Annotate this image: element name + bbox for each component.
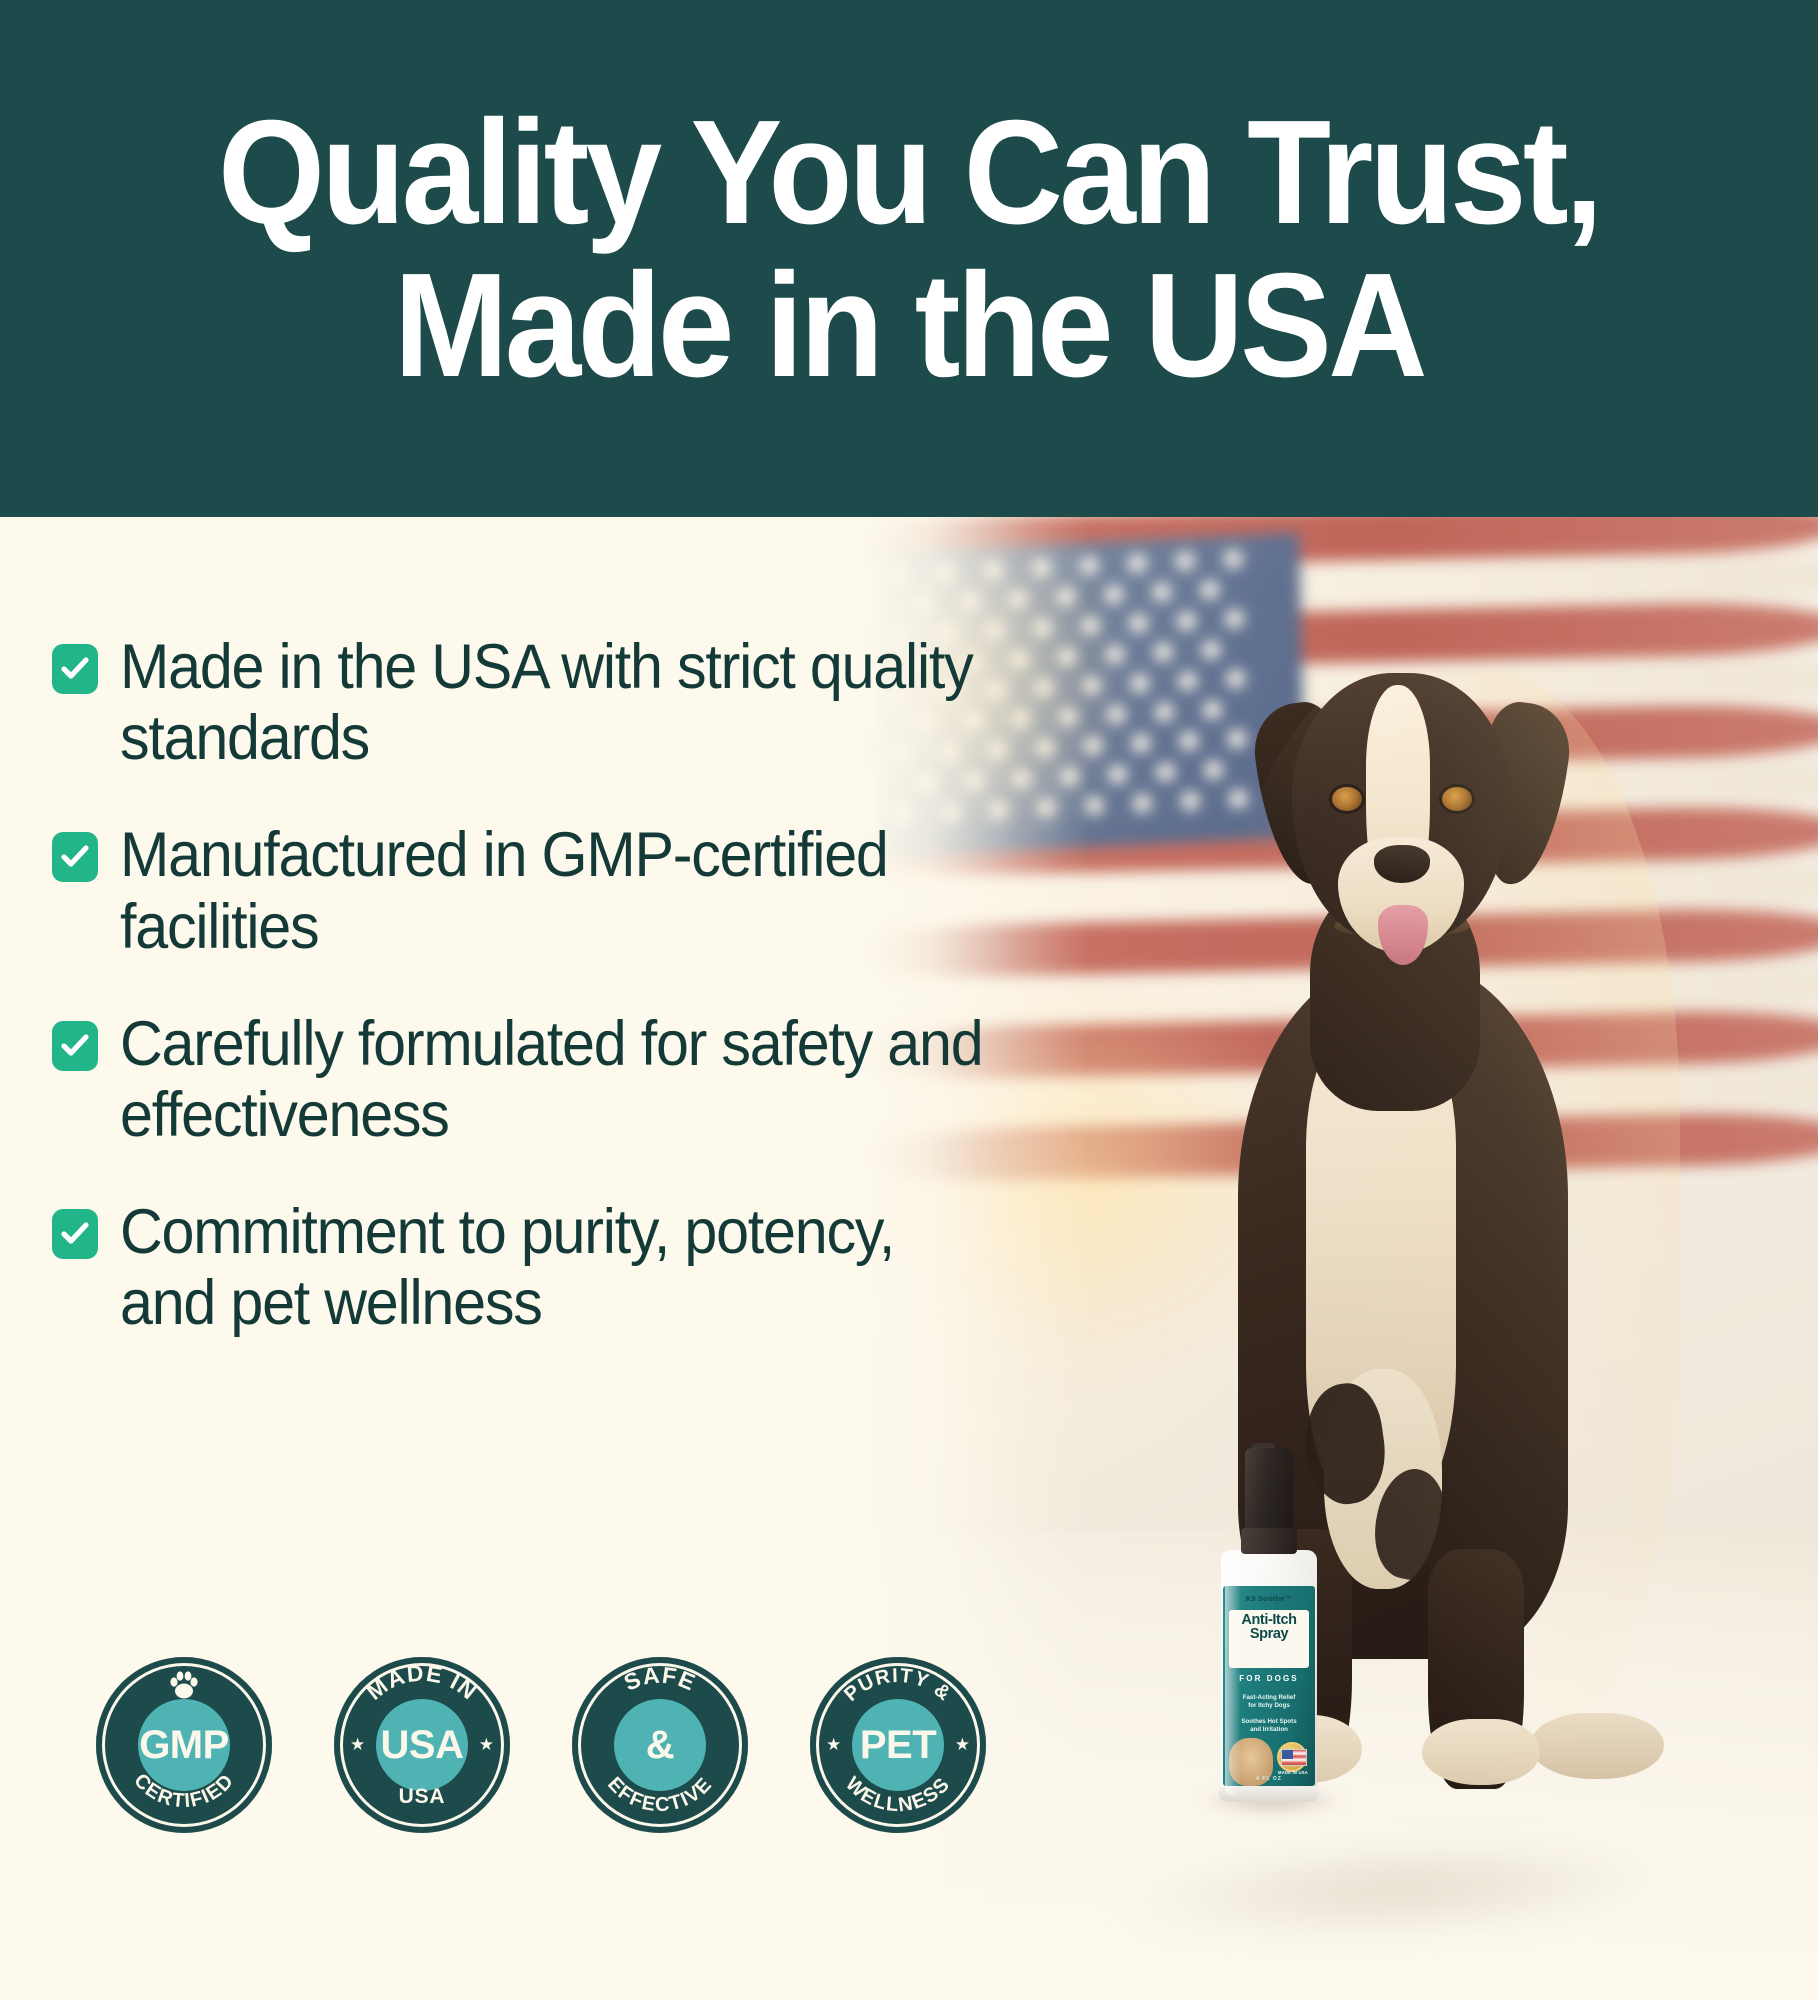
list-item: Carefully formulated for safety and effe…: [52, 1009, 1062, 1151]
badge-arc-top-text: SAFE: [620, 1662, 700, 1696]
infographic-page: Quality You Can Trust, Made in the USA: [0, 0, 1818, 2000]
paw-print-icon: [167, 1670, 201, 1705]
product-bottle: K9 Soothe™ Anti-Itch Spray FOR DOGS Fast…: [1213, 1448, 1325, 1800]
spray-cap: [1245, 1448, 1293, 1532]
list-item-label: Commitment to purity, potency, and pet w…: [120, 1197, 985, 1339]
sitting-dog: [1110, 669, 1670, 1799]
list-item: Commitment to purity, potency, and pet w…: [52, 1197, 1062, 1339]
made-in-usa-badge: USA ★ ★ MADE IN USA: [334, 1657, 510, 1833]
badge-arc-bottom-text: EFFECTIVE: [603, 1773, 717, 1816]
brand-name: K9 Soothe™: [1223, 1594, 1315, 1603]
gmp-certified-badge: GMP CERTIFIED: [96, 1657, 272, 1833]
list-item: Made in the USA with strict quality stan…: [52, 632, 1062, 774]
list-item: Manufactured in GMP-certified facilities: [52, 820, 1062, 962]
checkbox-checked-icon: [52, 644, 98, 694]
header-banner: Quality You Can Trust, Made in the USA: [0, 0, 1818, 517]
svg-text:PURITY &: PURITY &: [840, 1665, 956, 1706]
badge-bottom-text: USA: [334, 1785, 510, 1809]
product-claim-1: Fast-Acting Relief for Itchy Dogs: [1223, 1694, 1315, 1710]
list-item-label: Made in the USA with strict quality stan…: [120, 632, 985, 774]
product-title: Anti-Itch Spray: [1223, 1614, 1315, 1642]
badge-arc-top: SAFE EFFECTIVE: [572, 1657, 748, 1833]
badge-arc-top-text: MADE IN: [361, 1660, 482, 1705]
benefits-checklist: Made in the USA with strict quality stan…: [52, 632, 1062, 1340]
page-title-line-1: Quality You Can Trust,: [218, 97, 1599, 249]
svg-text:WELLNESS: WELLNESS: [841, 1773, 955, 1816]
label-usa-flag-icon: [1281, 1749, 1307, 1766]
badge-arc-top-text: PURITY &: [840, 1665, 956, 1706]
svg-text:MADE IN: MADE IN: [361, 1660, 482, 1705]
checkbox-checked-icon: [52, 1021, 98, 1071]
page-title-line-2: Made in the USA: [394, 250, 1424, 402]
list-item-label: Carefully formulated for safety and effe…: [120, 1009, 985, 1151]
trust-badges: GMP CERTIFIED USA ★ ★ MADE IN USA &: [96, 1657, 986, 1833]
checkbox-checked-icon: [52, 832, 98, 882]
label-volume: 4 FL OZ: [1223, 1776, 1315, 1782]
svg-text:SAFE: SAFE: [620, 1662, 700, 1696]
for-dogs-label: FOR DOGS: [1223, 1674, 1315, 1683]
safe-and-effective-badge: & SAFE EFFECTIVE: [572, 1657, 748, 1833]
svg-text:EFFECTIVE: EFFECTIVE: [603, 1773, 717, 1816]
badge-arc-bottom-text: CERTIFIED: [129, 1770, 238, 1813]
product-claim-2: Soothes Hot Spots and Irritation: [1223, 1718, 1315, 1734]
badge-arc-bottom-text: WELLNESS: [841, 1773, 955, 1816]
purity-pet-wellness-badge: PET ★ ★ PURITY & WELLNESS: [810, 1657, 986, 1833]
bottle-label: K9 Soothe™ Anti-Itch Spray FOR DOGS Fast…: [1223, 1586, 1315, 1786]
product-title-line-2: Spray: [1250, 1626, 1288, 1642]
badge-arc-top: PURITY & WELLNESS: [810, 1657, 986, 1833]
list-item-label: Manufactured in GMP-certified facilities: [120, 820, 985, 962]
svg-text:CERTIFIED: CERTIFIED: [129, 1770, 238, 1813]
checkbox-checked-icon: [52, 1209, 98, 1259]
